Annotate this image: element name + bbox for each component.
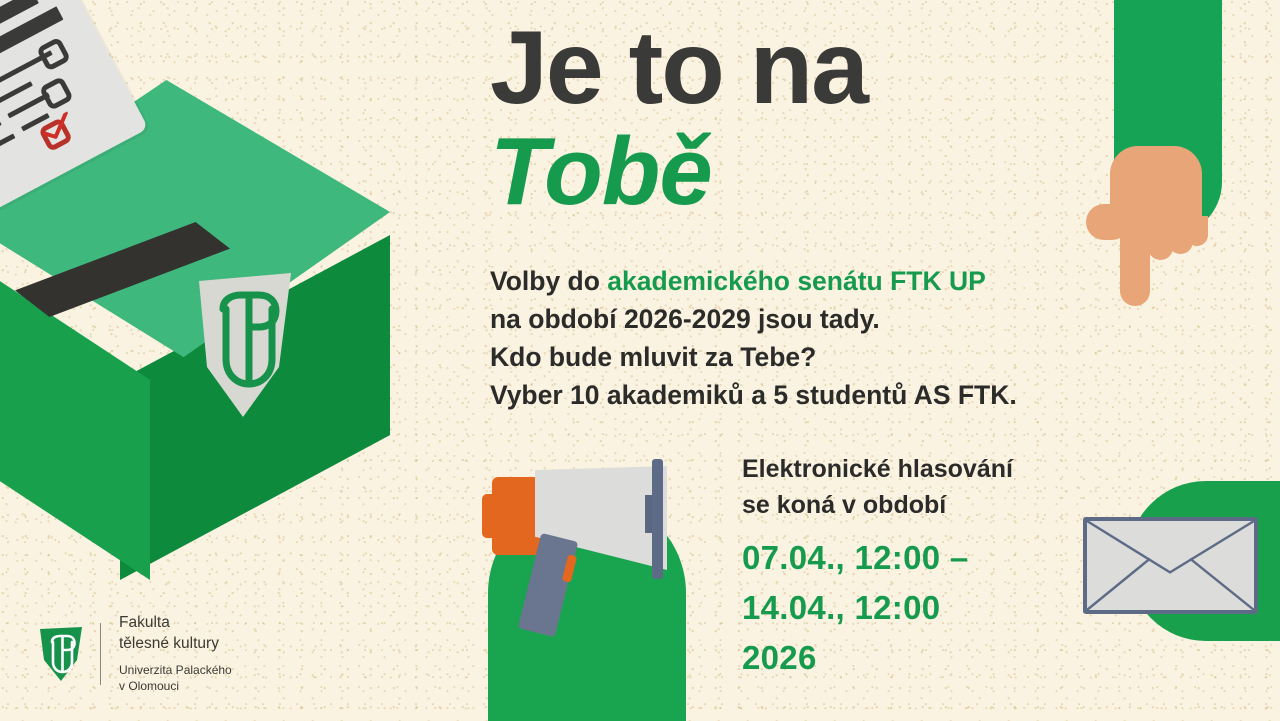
logo-faculty-line-2: tělesné kultury	[119, 634, 232, 654]
logo-text: Fakulta tělesné kultury Univerzita Palac…	[119, 613, 232, 694]
logo-university-line-2: v Olomouci	[119, 679, 232, 695]
voting-dates: 07.04., 12:00 – 14.04., 12:00 2026	[742, 533, 1082, 683]
voting-date-line-2: 14.04., 12:00	[742, 583, 1082, 633]
voting-date-line-1: 07.04., 12:00 –	[742, 533, 1082, 583]
logo-university-name: Univerzita Palackého v Olomouci	[119, 663, 232, 694]
ballot-text-line-5	[0, 120, 2, 152]
ballot-checkbox-1	[36, 37, 71, 72]
body-line-1-highlight: akademického senátu FTK UP	[607, 266, 985, 296]
ballot-box-illustration	[0, 0, 430, 590]
up-shield-on-box	[193, 271, 297, 419]
logo-divider	[100, 623, 101, 685]
page-title: Je to na Tobě	[490, 16, 1190, 223]
voting-period-block: Elektronické hlasování se koná v období …	[742, 452, 1082, 683]
body-line-1: Volby do akademického senátu FTK UP	[490, 262, 1100, 300]
hand-index-finger	[1120, 214, 1150, 306]
poster-canvas: Je to na Tobě Volby do akademického sená…	[0, 0, 1280, 721]
ballot-text-line-4	[0, 81, 33, 104]
voting-intro-line-1: Elektronické hlasování	[742, 452, 1082, 488]
body-line-4: Vyber 10 akademiků a 5 studentů AS FTK.	[490, 376, 1100, 414]
body-line-1-prefix: Volby do	[490, 266, 607, 296]
body-copy: Volby do akademického senátu FTK UP na o…	[490, 262, 1100, 415]
up-shield-logo-icon	[38, 626, 84, 682]
body-line-3: Kdo bude mluvit za Tebe?	[490, 338, 1100, 376]
voting-intro: Elektronické hlasování se koná v období	[742, 452, 1082, 523]
logo-faculty-line-1: Fakulta	[119, 613, 232, 633]
voting-intro-line-2: se koná v období	[742, 488, 1082, 524]
university-logo: Fakulta tělesné kultury Univerzita Palac…	[38, 612, 308, 696]
logo-faculty-name: Fakulta tělesné kultury	[119, 613, 232, 654]
body-line-2: na období 2026-2029 jsou tady.	[490, 300, 1100, 338]
ballot-checkbox-2	[39, 76, 74, 111]
envelope-illustration	[1083, 517, 1258, 614]
ballot-text-line-7	[0, 133, 15, 162]
megaphone-body	[492, 477, 542, 555]
megaphone-mouth-bar	[652, 459, 663, 579]
voting-date-line-3: 2026	[742, 633, 1082, 683]
logo-university-line-1: Univerzita Palackého	[119, 663, 232, 679]
headline-line-2: Tobě	[490, 122, 1190, 223]
headline-line-1: Je to na	[490, 16, 1190, 120]
